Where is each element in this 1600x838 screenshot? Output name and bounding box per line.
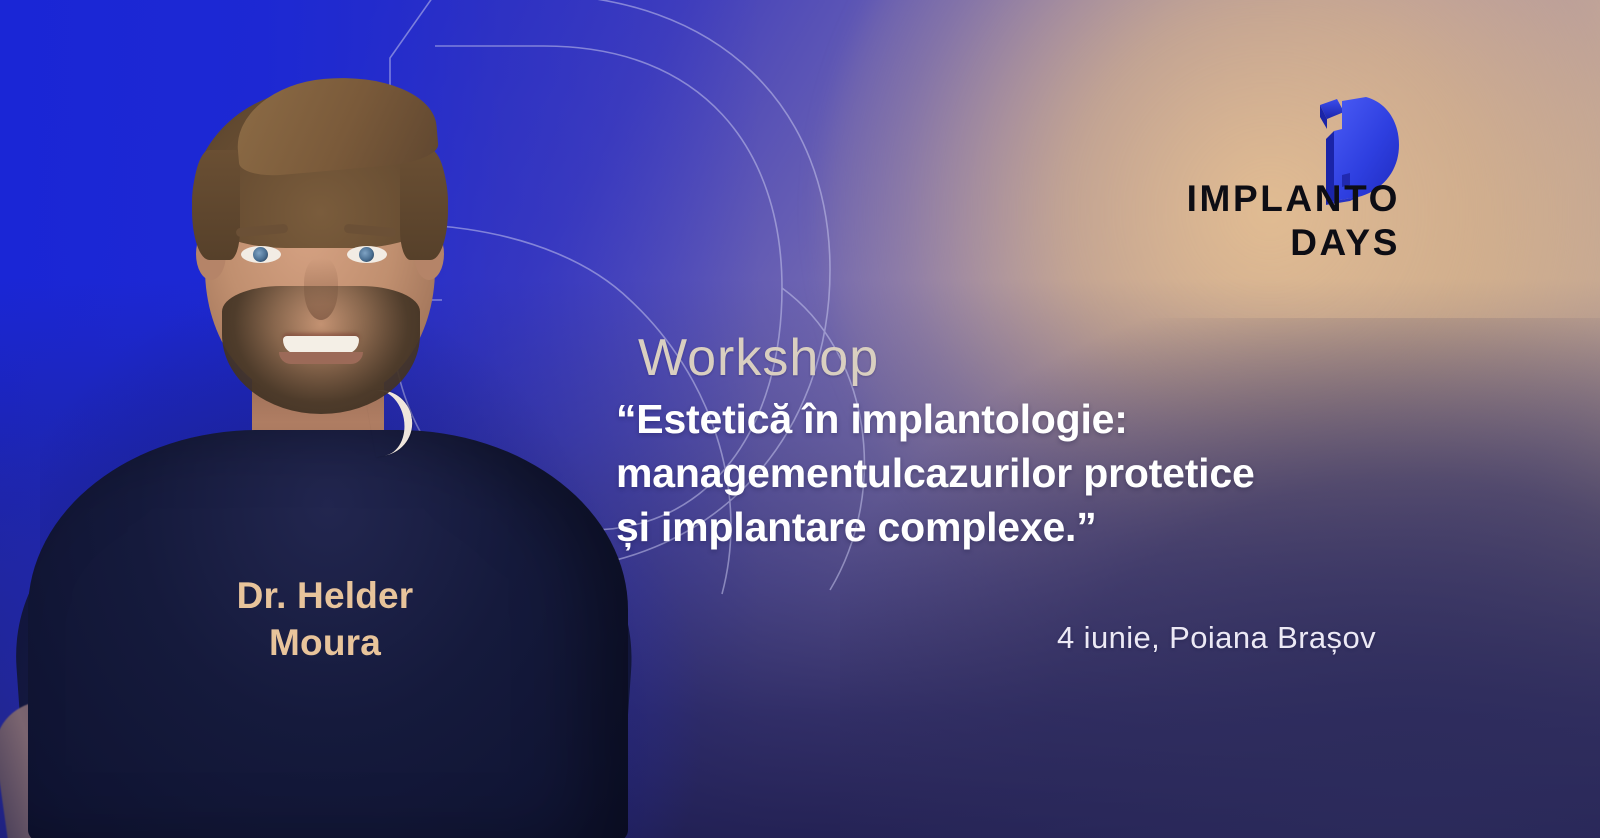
speaker-portrait	[0, 0, 700, 838]
promo-banner: Dr. Helder Moura	[0, 0, 1600, 838]
speaker-name: Dr. Helder Moura	[110, 572, 540, 667]
brand-logo-text: IMPLANTO DAYS	[1187, 177, 1400, 264]
event-date-location: 4 iunie, Poiana Brașov	[716, 620, 1376, 656]
portrait-iris-right	[359, 247, 374, 262]
speaker-name-line-2: Moura	[110, 619, 540, 666]
portrait-hair-swoop	[232, 69, 439, 178]
portrait-lower-lip	[279, 352, 363, 364]
headline-line-1: “Estetică în implantologie:	[616, 392, 1376, 446]
headline-line-3: și implantare complexe.”	[616, 500, 1376, 554]
portrait-eye-right	[347, 246, 387, 263]
workshop-headline: “Estetică în implantologie: managementul…	[616, 392, 1376, 554]
brand-logo-line-2: DAYS	[1187, 221, 1400, 265]
portrait-iris-left	[253, 247, 268, 262]
workshop-kicker: Workshop	[638, 332, 1376, 384]
workshop-copy-block: Workshop “Estetică în implantologie: man…	[616, 332, 1376, 554]
brand-logo-line-1: IMPLANTO	[1187, 177, 1400, 221]
speaker-name-line-1: Dr. Helder	[110, 572, 540, 619]
portrait-hair-side-left	[192, 150, 240, 260]
portrait-hair-side-right	[400, 150, 448, 260]
portrait-eye-left	[241, 246, 281, 263]
headline-line-2: managementulcazurilor protetice	[616, 446, 1376, 500]
